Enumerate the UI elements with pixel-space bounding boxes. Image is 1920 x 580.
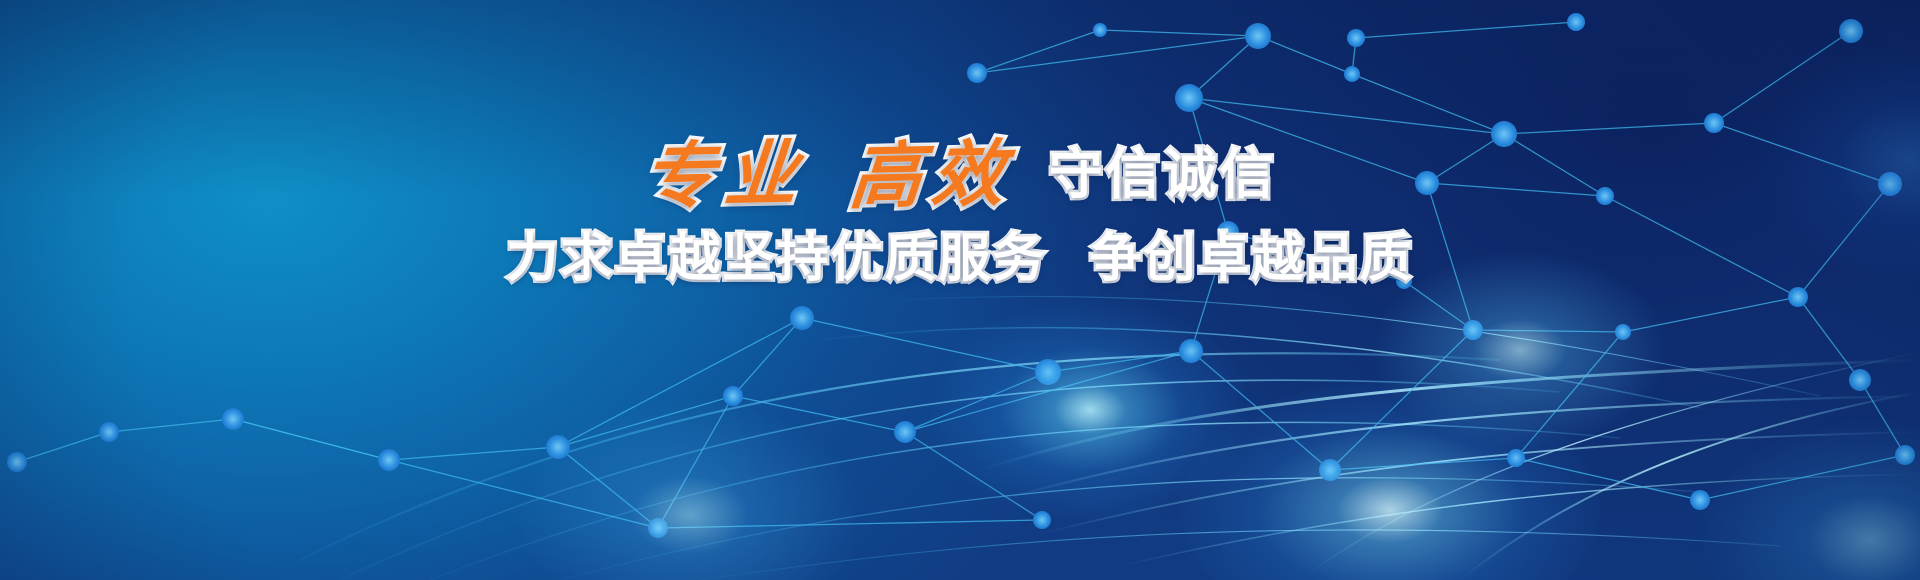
slogan-secondary-a: 力求卓越坚持优质服务 — [507, 226, 1047, 292]
hero-banner: 专业 高效 守信诚信 力求卓越坚持优质服务 争创卓越品质 — [0, 0, 1920, 580]
slogan-accent-first: 专业 — [640, 130, 812, 219]
slogan-secondary-b: 争创卓越品质 — [1089, 226, 1413, 292]
slogan-accent-second: 高效 — [846, 130, 1018, 219]
slogan-white-first: 守信诚信 — [1049, 132, 1277, 218]
headline-line-2: 力求卓越坚持优质服务 争创卓越品质 — [0, 226, 1920, 292]
headline-line-1: 专业 高效 守信诚信 — [0, 132, 1920, 218]
headline-block: 专业 高效 守信诚信 力求卓越坚持优质服务 争创卓越品质 — [0, 132, 1920, 292]
slogan-spacer — [812, 175, 846, 176]
